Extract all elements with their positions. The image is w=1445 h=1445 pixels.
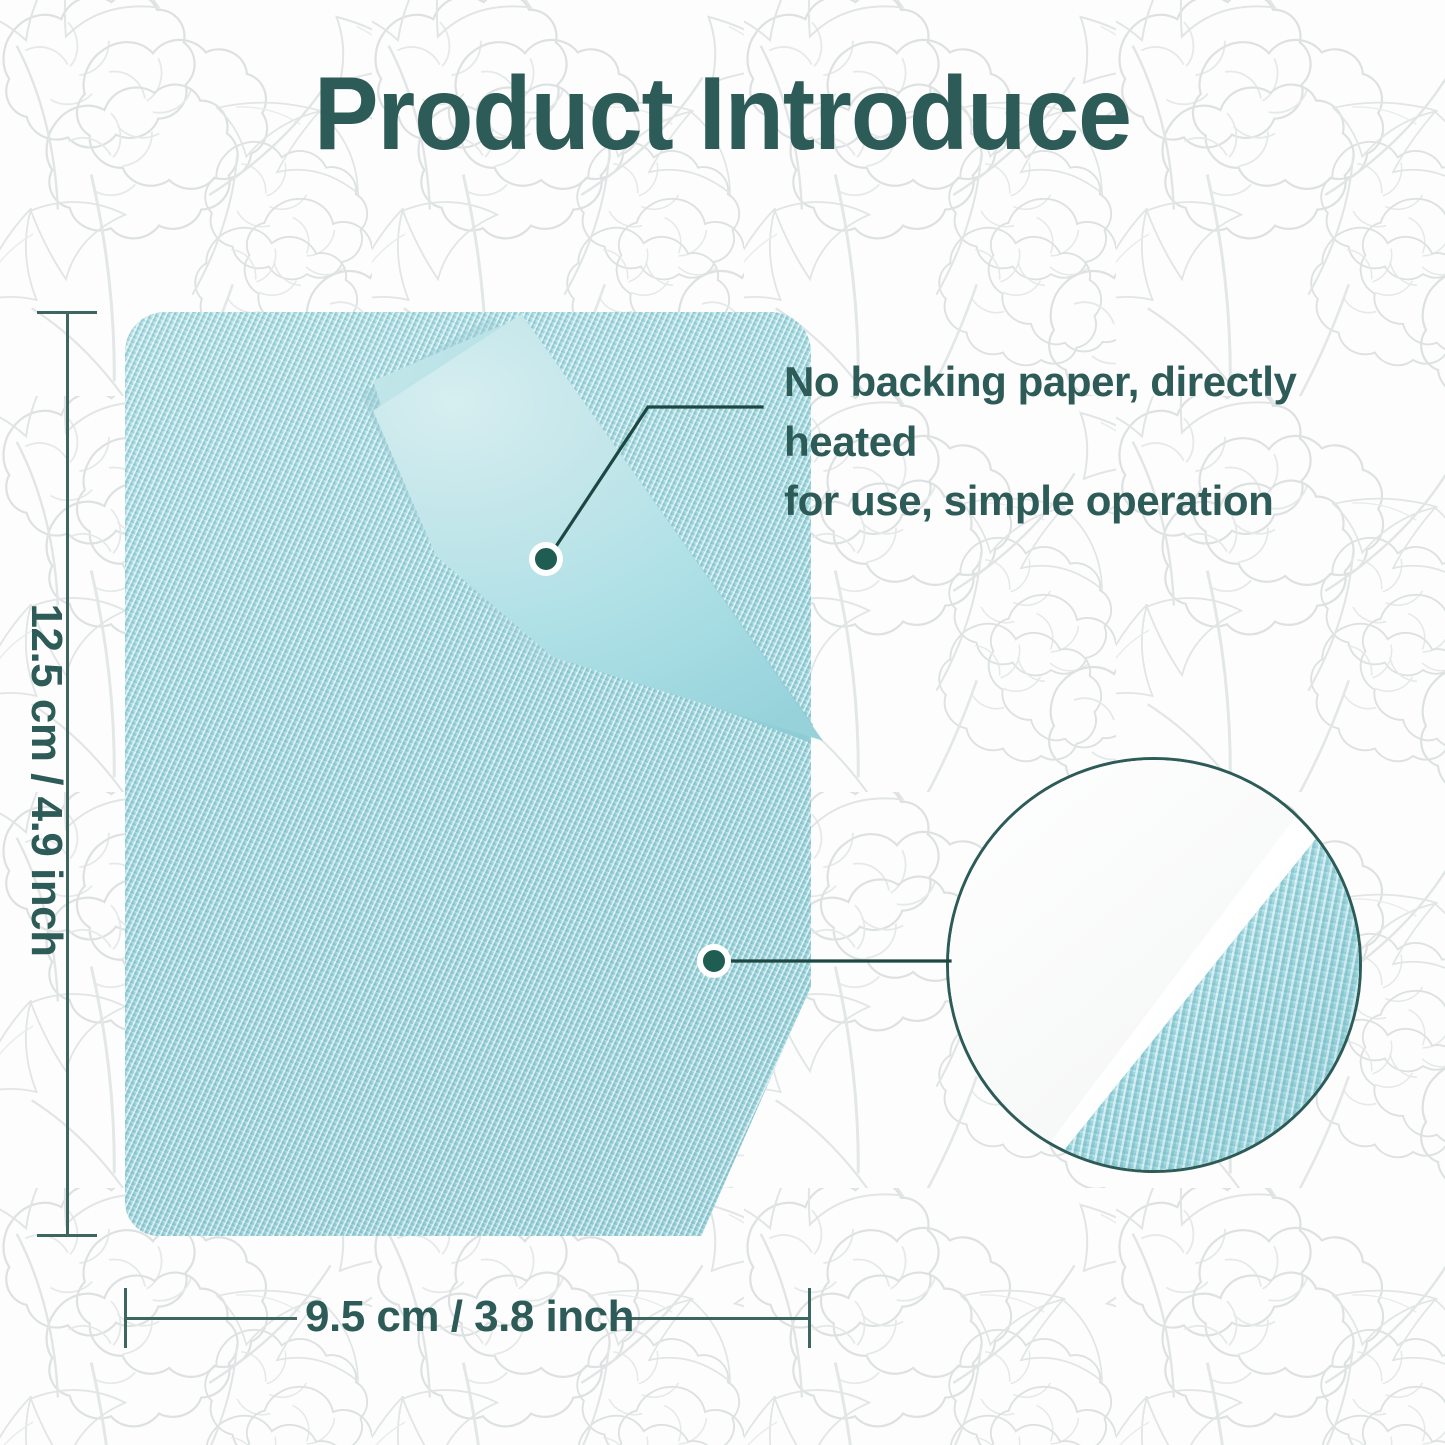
fabric-closeup-circle (946, 757, 1362, 1173)
callout-line-2: for use, simple operation (784, 471, 1408, 531)
page-title: Product Introduce (51, 62, 1395, 166)
callout-line-1: No backing paper, directly heated (784, 352, 1408, 471)
width-dimension-line-right (612, 1317, 810, 1320)
callout-dot-fabric-closeup[interactable] (697, 944, 731, 978)
height-dimension-label: 12.5 cm / 4.9 inch (21, 604, 71, 957)
width-dimension-label: 9.5 cm / 3.8 inch (305, 1292, 605, 1342)
corner-bevel (645, 922, 825, 1102)
width-dimension-line-left (125, 1317, 297, 1320)
product-infographic: Product Introduce 12.5 cm / 4.9 inch 9.5… (0, 0, 1445, 1445)
width-dimension-cap-left (124, 1288, 127, 1348)
product-swatch (125, 312, 811, 1236)
callout-dot-no-backing-paper[interactable] (529, 542, 563, 576)
callout-text-no-backing-paper: No backing paper, directly heated for us… (784, 352, 1408, 531)
height-dimension-cap-bottom (37, 1234, 97, 1237)
width-dimension-cap-right (808, 1288, 811, 1348)
height-dimension-cap-top (37, 311, 97, 314)
